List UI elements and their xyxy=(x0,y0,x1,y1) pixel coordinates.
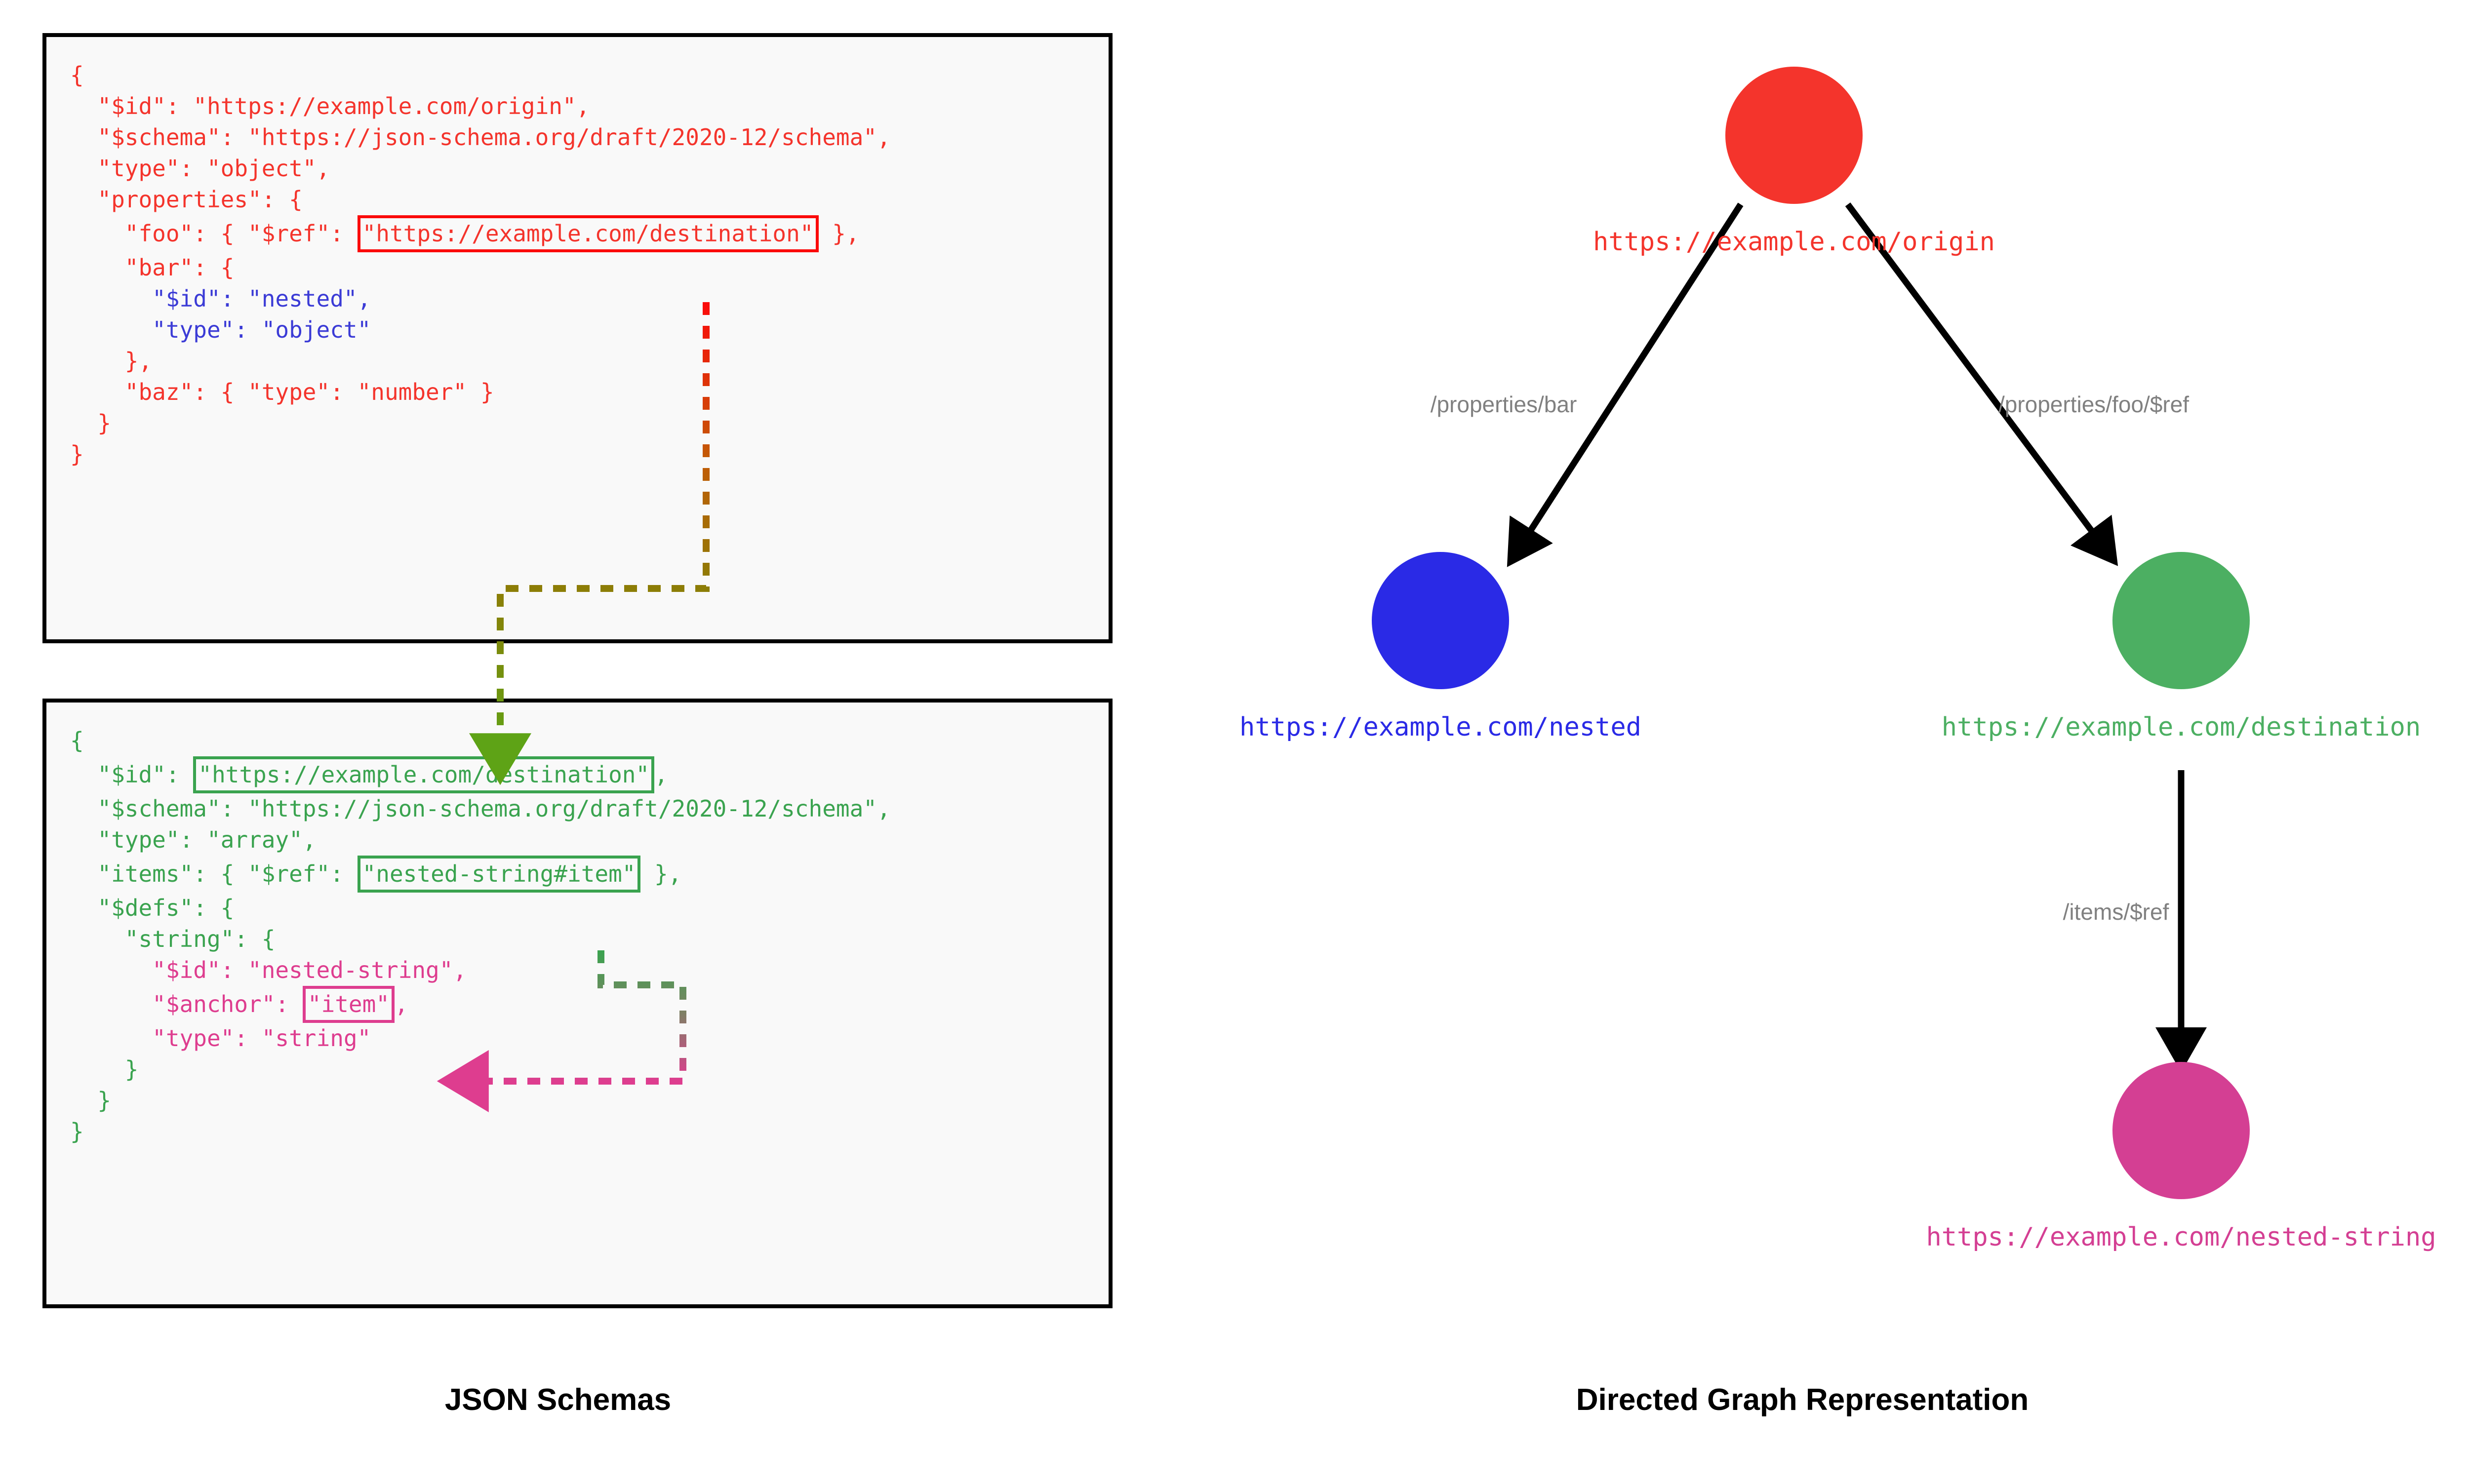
code-line: "string": { xyxy=(70,926,275,952)
code-line: "foo": { "$ref": "https://example.com/de… xyxy=(70,220,860,247)
code-text: "type": "string" xyxy=(70,1025,371,1052)
code-line: "type": "object" xyxy=(70,316,371,343)
code-text: "bar": { xyxy=(70,254,234,281)
code-text: } xyxy=(70,1118,84,1145)
code-line: "$id": "nested-string", xyxy=(70,957,467,983)
code-text: "string": { xyxy=(70,926,275,952)
graph-node-destination[interactable] xyxy=(2112,552,2250,689)
graph-node-nested-string[interactable] xyxy=(2112,1062,2250,1199)
caption-json-schemas: JSON Schemas xyxy=(445,1382,671,1417)
code-line: "baz": { "type": "number" } xyxy=(70,379,494,405)
edge-label-properties-bar: /properties/bar xyxy=(1431,391,1577,418)
highlighted-value[interactable]: "nested-string#item" xyxy=(358,856,641,893)
code-line: } xyxy=(70,1056,138,1083)
node-label-destination: https://example.com/destination xyxy=(1942,712,2421,742)
origin-schema-panel: { "$id": "https://example.com/origin", "… xyxy=(42,33,1113,643)
code-text: "$id": xyxy=(70,761,193,788)
code-text: }, xyxy=(819,220,860,247)
code-text: "$id": "https://example.com/origin", xyxy=(70,93,590,119)
code-text: } xyxy=(70,410,111,436)
caption-directed-graph: Directed Graph Representation xyxy=(1576,1382,2029,1417)
highlighted-value[interactable]: "https://example.com/destination" xyxy=(193,756,654,793)
code-text: "$anchor": xyxy=(70,991,303,1017)
code-line: "properties": { xyxy=(70,186,303,213)
code-line: "type": "array", xyxy=(70,826,317,853)
code-line: "bar": { xyxy=(70,254,234,281)
edge-label-items-ref: /items/$ref xyxy=(2063,898,2169,925)
code-line: "$id": "https://example.com/destination"… xyxy=(70,761,668,788)
code-text: } xyxy=(70,1087,111,1114)
code-line: } xyxy=(70,410,111,436)
code-text: "$defs": { xyxy=(70,895,234,921)
code-text: "type": "object" xyxy=(70,316,371,343)
figure-canvas: { "$id": "https://example.com/origin", "… xyxy=(0,0,2469,1484)
code-text: "foo": { "$ref": xyxy=(70,220,358,247)
destination-schema-panel: { "$id": "https://example.com/destinatio… xyxy=(42,699,1113,1308)
code-text: { xyxy=(70,727,84,754)
edge-label-properties-foo-ref: /properties/foo/$ref xyxy=(1998,391,2189,418)
code-text: "properties": { xyxy=(70,186,303,213)
code-line: "$anchor": "item", xyxy=(70,991,408,1017)
node-label-nested: https://example.com/nested xyxy=(1239,712,1641,742)
code-text: , xyxy=(654,761,668,788)
code-line: "type": "string" xyxy=(70,1025,371,1052)
code-text: "$schema": "https://json-schema.org/draf… xyxy=(70,795,891,822)
node-label-nested-string: https://example.com/nested-string xyxy=(1926,1222,2436,1252)
code-line: "type": "object", xyxy=(70,155,330,182)
code-text: }, xyxy=(70,348,152,374)
code-line: "$schema": "https://json-schema.org/draf… xyxy=(70,124,891,151)
graph-node-nested[interactable] xyxy=(1372,552,1509,689)
code-line: } xyxy=(70,1087,111,1114)
code-line: "$id": "nested", xyxy=(70,285,371,312)
code-line: { xyxy=(70,62,84,88)
code-text: }, xyxy=(640,860,681,887)
code-text: "$id": "nested", xyxy=(70,285,371,312)
code-line: { xyxy=(70,727,84,754)
destination-schema-code: { "$id": "https://example.com/destinatio… xyxy=(70,725,891,1147)
code-text: "$id": "nested-string", xyxy=(70,957,467,983)
code-text: { xyxy=(70,62,84,88)
code-text: "items": { "$ref": xyxy=(70,860,358,887)
highlighted-value[interactable]: "https://example.com/destination" xyxy=(358,215,819,252)
code-text: } xyxy=(70,1056,138,1083)
code-text: "baz": { "type": "number" } xyxy=(70,379,494,405)
code-line: "$schema": "https://json-schema.org/draf… xyxy=(70,795,891,822)
code-text: , xyxy=(395,991,408,1017)
code-text: "$schema": "https://json-schema.org/draf… xyxy=(70,124,891,151)
graph-node-origin[interactable] xyxy=(1725,67,1863,204)
code-line: "$defs": { xyxy=(70,895,234,921)
code-line: }, xyxy=(70,348,152,374)
code-line: "$id": "https://example.com/origin", xyxy=(70,93,590,119)
code-line: } xyxy=(70,441,84,468)
code-text: } xyxy=(70,441,84,468)
node-label-origin: https://example.com/origin xyxy=(1593,227,1995,257)
code-line: "items": { "$ref": "nested-string#item" … xyxy=(70,860,682,887)
origin-schema-code: { "$id": "https://example.com/origin", "… xyxy=(70,60,891,470)
code-text: "type": "object", xyxy=(70,155,330,182)
code-line: } xyxy=(70,1118,84,1145)
code-text: "type": "array", xyxy=(70,826,317,853)
highlighted-value[interactable]: "item" xyxy=(303,986,395,1023)
